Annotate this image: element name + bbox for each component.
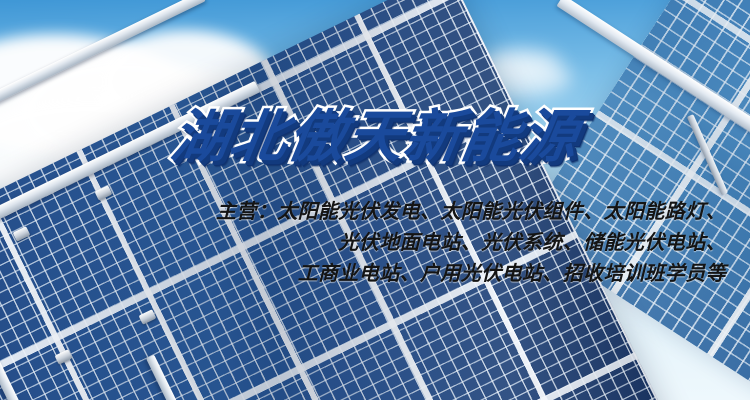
solar-company-banner: 湖北傲天新能源 主营：太阳能光伏发电、太阳能光伏组件、太阳能路灯、 光伏地面电站… (0, 0, 750, 400)
